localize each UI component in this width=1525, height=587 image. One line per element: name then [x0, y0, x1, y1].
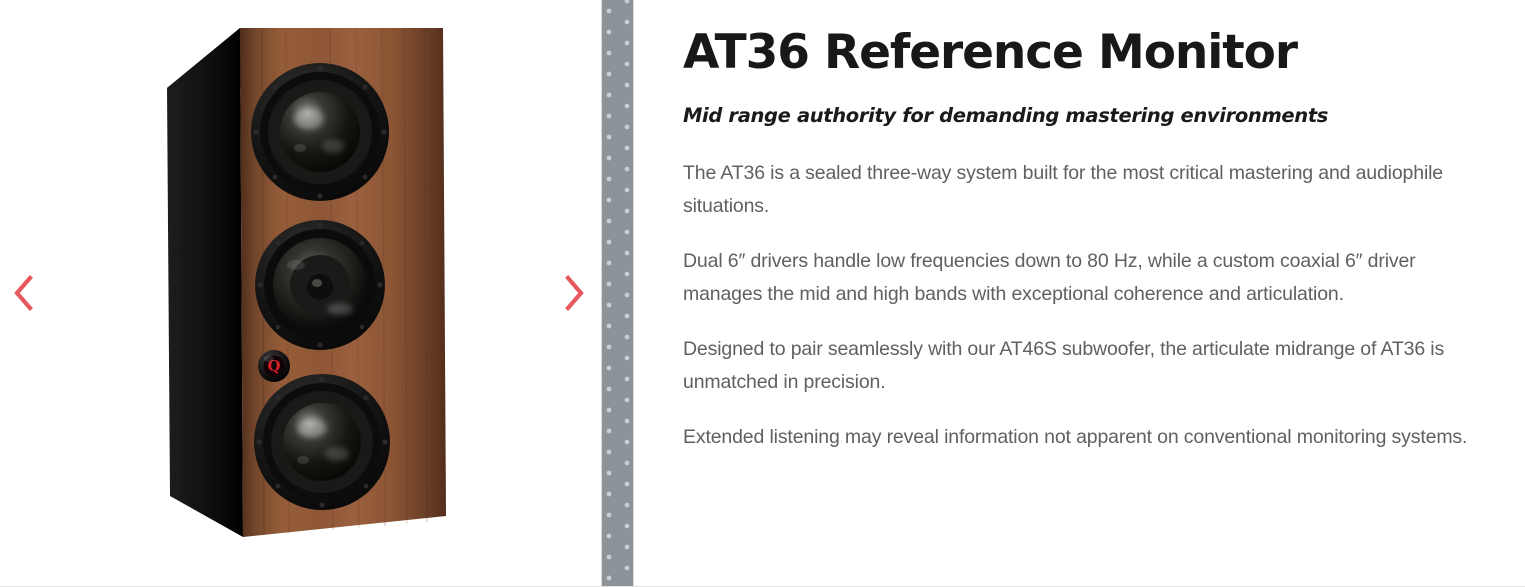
product-details: AT36 Reference Monitor Mid range authori… — [634, 0, 1525, 586]
chevron-left-icon — [10, 273, 36, 313]
chevron-right-icon — [561, 273, 587, 313]
section-divider — [601, 0, 634, 586]
product-tagline: Mid range authority for demanding master… — [683, 104, 1485, 128]
product-description-paragraph: The AT36 is a sealed three-way system bu… — [683, 157, 1485, 223]
divider-dot-pattern — [602, 0, 633, 586]
driver-bottom — [254, 374, 390, 510]
brand-badge: Q — [258, 350, 290, 382]
phase-plug — [307, 274, 333, 300]
driver-top — [251, 63, 389, 201]
carousel-prev-button[interactable] — [0, 0, 46, 586]
product-description-paragraph: Designed to pair seamlessly with our AT4… — [683, 333, 1485, 399]
cabinet-side-panel — [167, 28, 243, 537]
product-description-paragraph: Extended listening may reveal informatio… — [683, 421, 1485, 454]
page-title: AT36 Reference Monitor — [683, 27, 1485, 80]
product-description-paragraph: Dual 6″ drivers handle low frequencies d… — [683, 245, 1485, 311]
product-detail-pane: Q — [0, 0, 1525, 587]
speaker-illustration: Q — [0, 0, 601, 586]
driver-middle-coaxial — [255, 220, 385, 350]
carousel-next-button[interactable] — [551, 0, 597, 586]
product-image: Q — [0, 0, 601, 586]
product-image-carousel: Q — [0, 0, 601, 586]
